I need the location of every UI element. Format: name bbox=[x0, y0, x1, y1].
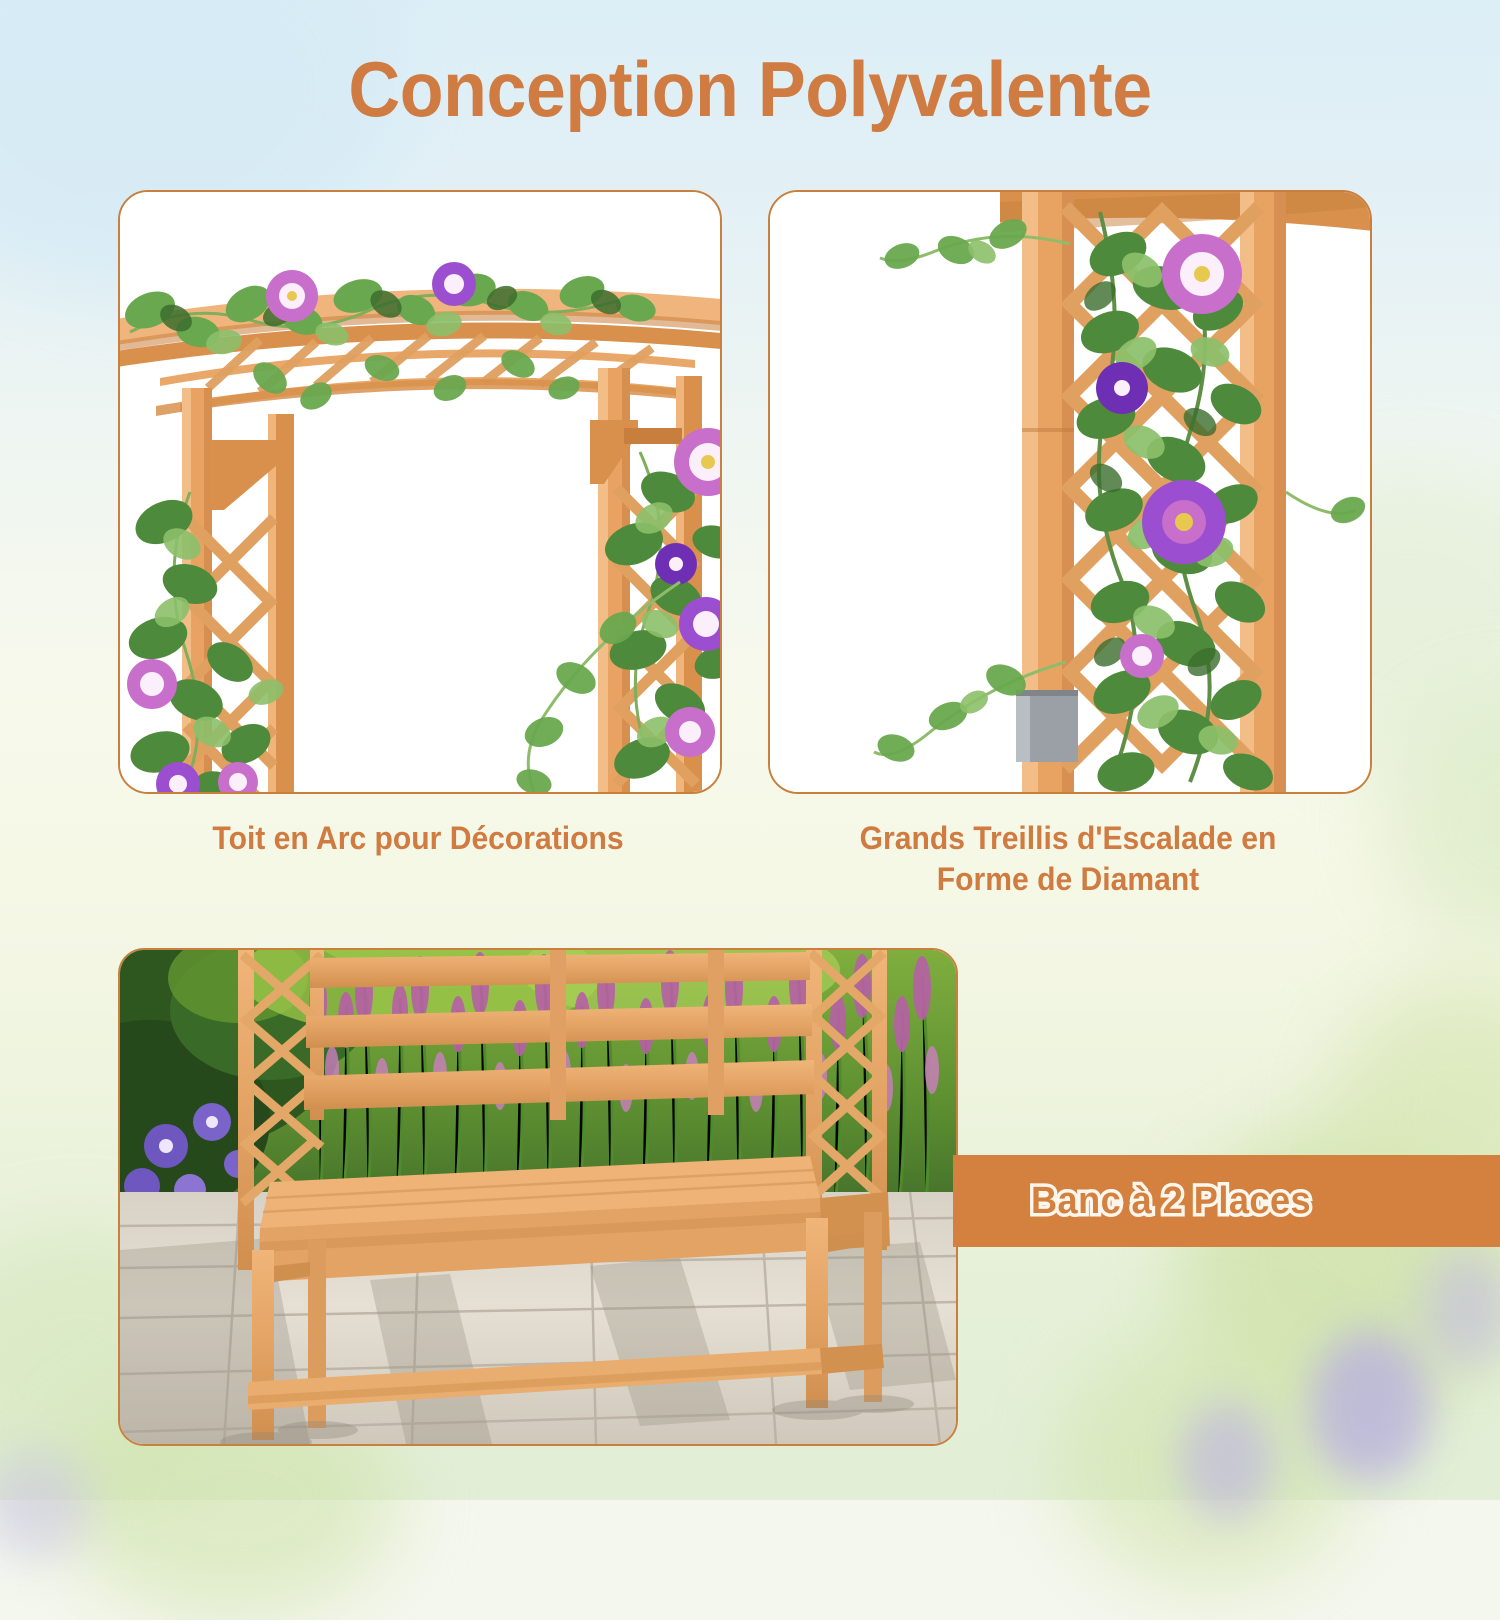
arch-roof-photo bbox=[120, 192, 720, 792]
page-title: Conception Polyvalente bbox=[60, 44, 1440, 135]
feature-card-arch-roof bbox=[118, 190, 722, 794]
flower-top-mid bbox=[432, 262, 476, 306]
feature-card-diamond-trellis bbox=[768, 190, 1372, 794]
flower-trellis-low bbox=[1120, 634, 1164, 678]
bench-banner-label: Banc à 2 Places bbox=[1031, 1180, 1311, 1223]
caption-arch-roof-line1: Toit en Arc pour Décorations bbox=[136, 818, 700, 859]
flower-right-2 bbox=[655, 543, 697, 585]
flower-trellis-small-violet bbox=[1096, 362, 1148, 414]
flower-left-1 bbox=[127, 659, 177, 709]
caption-diamond-trellis-line1: Grands Treillis d'Escalade en bbox=[786, 818, 1350, 859]
flower-top-left bbox=[266, 270, 318, 322]
background-blob-flower-1 bbox=[1310, 1330, 1430, 1480]
feature-card-bench bbox=[118, 948, 958, 1446]
caption-diamond-trellis-line2: Forme de Diamant bbox=[786, 859, 1350, 900]
caption-arch-roof: Toit en Arc pour Décorations bbox=[136, 818, 700, 859]
flower-trellis-top bbox=[1162, 234, 1242, 314]
caption-diamond-trellis: Grands Treillis d'Escalade en Forme de D… bbox=[786, 818, 1350, 900]
flower-trellis-mid bbox=[1142, 480, 1226, 564]
background-blob-flower-2 bbox=[1180, 1400, 1275, 1520]
diamond-trellis-photo bbox=[770, 192, 1370, 792]
bench-photo bbox=[120, 950, 956, 1444]
flower-right-4 bbox=[665, 707, 715, 757]
bench-banner: Banc à 2 Places bbox=[953, 1155, 1500, 1247]
